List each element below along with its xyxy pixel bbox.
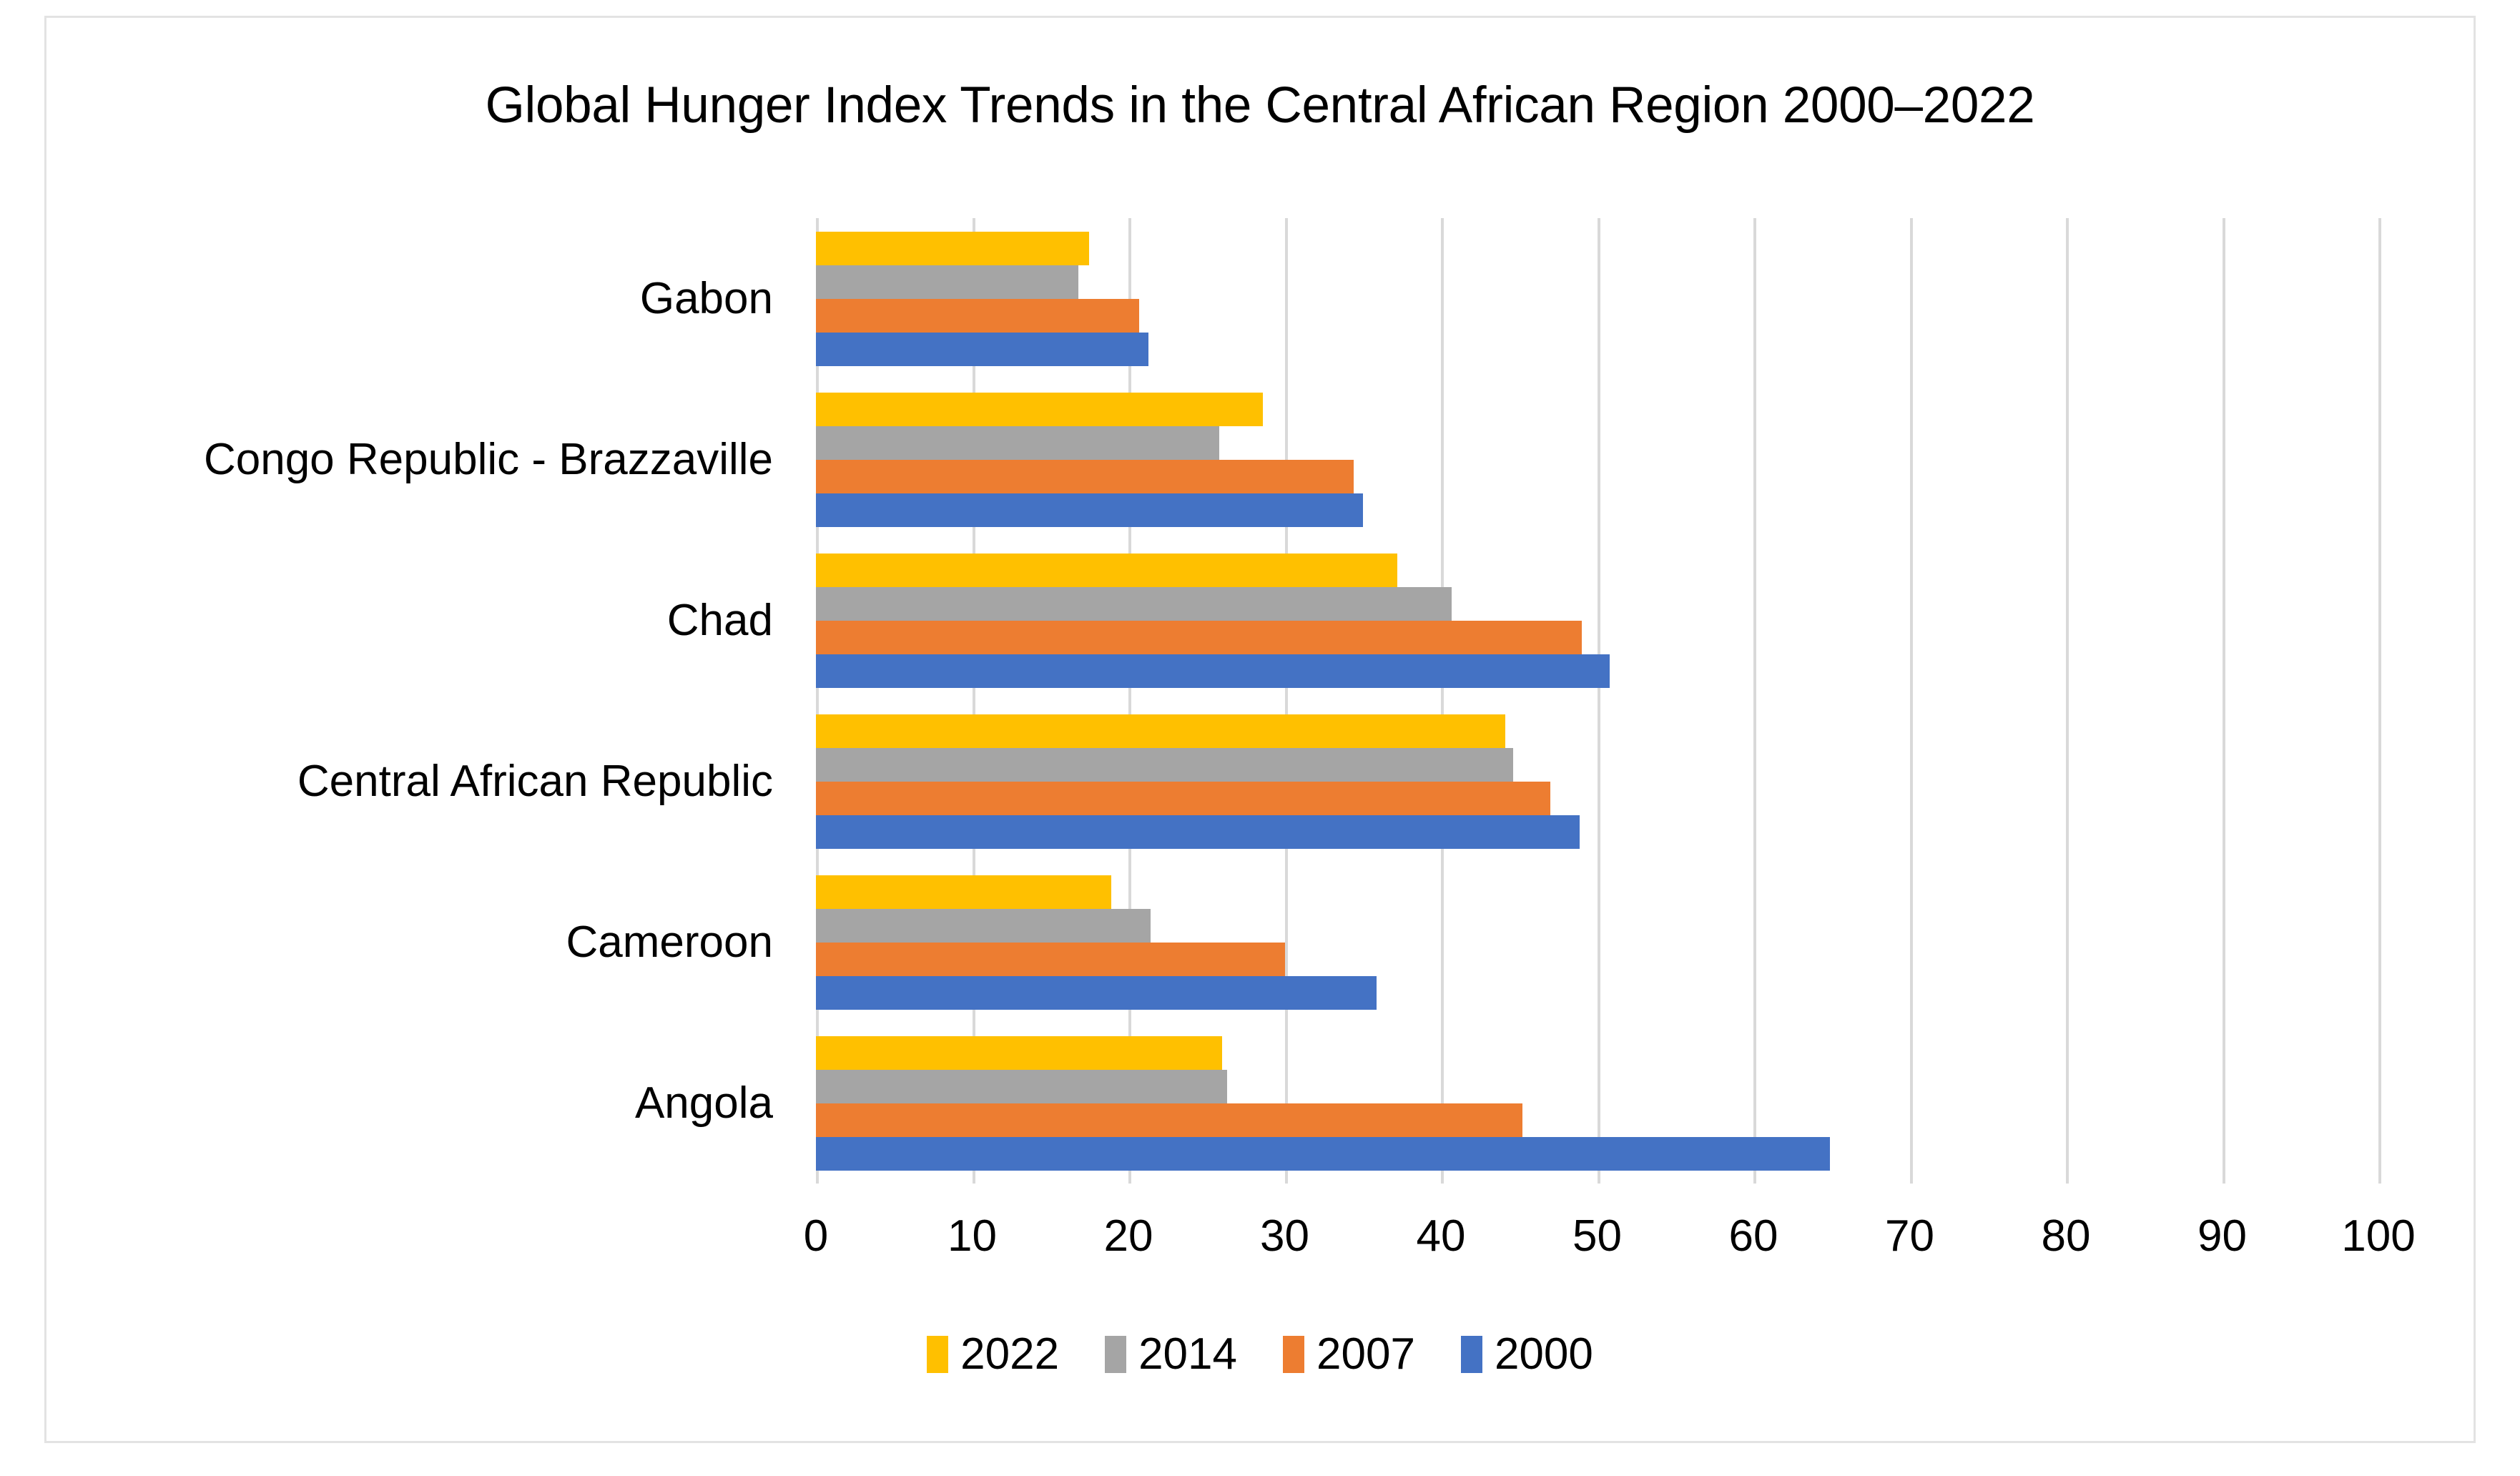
bar-row bbox=[816, 460, 2378, 493]
bar-2007[interactable] bbox=[816, 621, 1582, 654]
bar-2022[interactable] bbox=[816, 232, 1089, 265]
bar-2022[interactable] bbox=[816, 393, 1263, 426]
bar-2007[interactable] bbox=[816, 1103, 1522, 1137]
category-label: Congo Republic - Brazzaville bbox=[204, 438, 773, 482]
bar-2014[interactable] bbox=[816, 587, 1452, 621]
bar-2022[interactable] bbox=[816, 553, 1397, 587]
bar-row bbox=[816, 976, 2378, 1010]
x-tick-label: 60 bbox=[1729, 1211, 1778, 1261]
bar-2014[interactable] bbox=[816, 1070, 1227, 1103]
bar-2007[interactable] bbox=[816, 460, 1354, 493]
bar-row bbox=[816, 875, 2378, 909]
legend-label: 2022 bbox=[960, 1332, 1059, 1377]
bar-row bbox=[816, 232, 2378, 265]
bar-row bbox=[816, 265, 2378, 299]
bar-2014[interactable] bbox=[816, 426, 1219, 460]
bar-row bbox=[816, 782, 2378, 815]
bar-group bbox=[816, 393, 2378, 527]
category-label: Central African Republic bbox=[297, 759, 773, 804]
bar-2000[interactable] bbox=[816, 976, 1377, 1010]
category-label: Chad bbox=[667, 599, 773, 643]
x-tick-label: 30 bbox=[1260, 1211, 1309, 1261]
bar-row bbox=[816, 1137, 2378, 1171]
x-tick-label: 80 bbox=[2042, 1211, 2091, 1261]
legend-item-2000[interactable]: 2000 bbox=[1461, 1332, 1593, 1377]
x-tick-label: 70 bbox=[1885, 1211, 1934, 1261]
category-axis-labels: GabonCongo Republic - BrazzavilleChadCen… bbox=[46, 218, 790, 1184]
bar-2000[interactable] bbox=[816, 493, 1363, 527]
legend-swatch-icon bbox=[1105, 1336, 1126, 1373]
bar-row bbox=[816, 493, 2378, 527]
bar-2000[interactable] bbox=[816, 654, 1610, 688]
legend-item-2014[interactable]: 2014 bbox=[1105, 1332, 1237, 1377]
bar-row bbox=[816, 714, 2378, 748]
legend-item-2022[interactable]: 2022 bbox=[927, 1332, 1059, 1377]
value-axis: 0102030405060708090100 bbox=[816, 1184, 2378, 1269]
chart-legend: 2022201420072000 bbox=[46, 1332, 2474, 1377]
bar-group bbox=[816, 1036, 2378, 1171]
bar-group bbox=[816, 553, 2378, 688]
legend-label: 2000 bbox=[1495, 1332, 1593, 1377]
legend-swatch-icon bbox=[1283, 1336, 1304, 1373]
bar-2022[interactable] bbox=[816, 714, 1505, 748]
bar-2007[interactable] bbox=[816, 782, 1550, 815]
legend-label: 2014 bbox=[1138, 1332, 1237, 1377]
x-tick-label: 90 bbox=[2197, 1211, 2247, 1261]
x-tick-label: 10 bbox=[948, 1211, 997, 1261]
bar-row bbox=[816, 1036, 2378, 1070]
bar-2022[interactable] bbox=[816, 875, 1111, 909]
bar-2007[interactable] bbox=[816, 943, 1285, 976]
category-label: Cameroon bbox=[566, 920, 773, 965]
legend-item-2007[interactable]: 2007 bbox=[1283, 1332, 1415, 1377]
bar-group bbox=[816, 875, 2378, 1010]
bar-2022[interactable] bbox=[816, 1036, 1222, 1070]
bar-group bbox=[816, 232, 2378, 366]
x-tick-label: 50 bbox=[1572, 1211, 1622, 1261]
bar-row bbox=[816, 333, 2378, 366]
x-tick-label: 20 bbox=[1104, 1211, 1153, 1261]
bar-row bbox=[816, 748, 2378, 782]
category-label: Angola bbox=[635, 1081, 773, 1126]
gridline-100 bbox=[2378, 218, 2381, 1184]
bar-row bbox=[816, 909, 2378, 943]
legend-label: 2007 bbox=[1316, 1332, 1415, 1377]
chart-card: Global Hunger Index Trends in the Centra… bbox=[44, 16, 2476, 1443]
bar-row bbox=[816, 1070, 2378, 1103]
category-label: Gabon bbox=[640, 277, 773, 321]
legend-swatch-icon bbox=[1461, 1336, 1482, 1373]
x-tick-label: 0 bbox=[804, 1211, 828, 1261]
bar-2014[interactable] bbox=[816, 748, 1513, 782]
bar-row bbox=[816, 587, 2378, 621]
bar-row bbox=[816, 815, 2378, 849]
bar-row bbox=[816, 943, 2378, 976]
bar-row bbox=[816, 654, 2378, 688]
bar-row bbox=[816, 393, 2378, 426]
bar-2014[interactable] bbox=[816, 265, 1078, 299]
bar-row bbox=[816, 426, 2378, 460]
bar-row bbox=[816, 621, 2378, 654]
x-tick-label: 100 bbox=[2341, 1211, 2415, 1261]
bar-2000[interactable] bbox=[816, 1137, 1830, 1171]
bar-row bbox=[816, 553, 2378, 587]
chart-title: Global Hunger Index Trends in the Centra… bbox=[46, 77, 2474, 134]
plot-area bbox=[816, 218, 2378, 1184]
bar-2000[interactable] bbox=[816, 815, 1580, 849]
bar-2014[interactable] bbox=[816, 909, 1151, 943]
bar-2007[interactable] bbox=[816, 299, 1139, 333]
bar-row bbox=[816, 1103, 2378, 1137]
x-tick-label: 40 bbox=[1417, 1211, 1466, 1261]
bar-row bbox=[816, 299, 2378, 333]
bar-2000[interactable] bbox=[816, 333, 1148, 366]
bar-group bbox=[816, 714, 2378, 849]
legend-swatch-icon bbox=[927, 1336, 948, 1373]
